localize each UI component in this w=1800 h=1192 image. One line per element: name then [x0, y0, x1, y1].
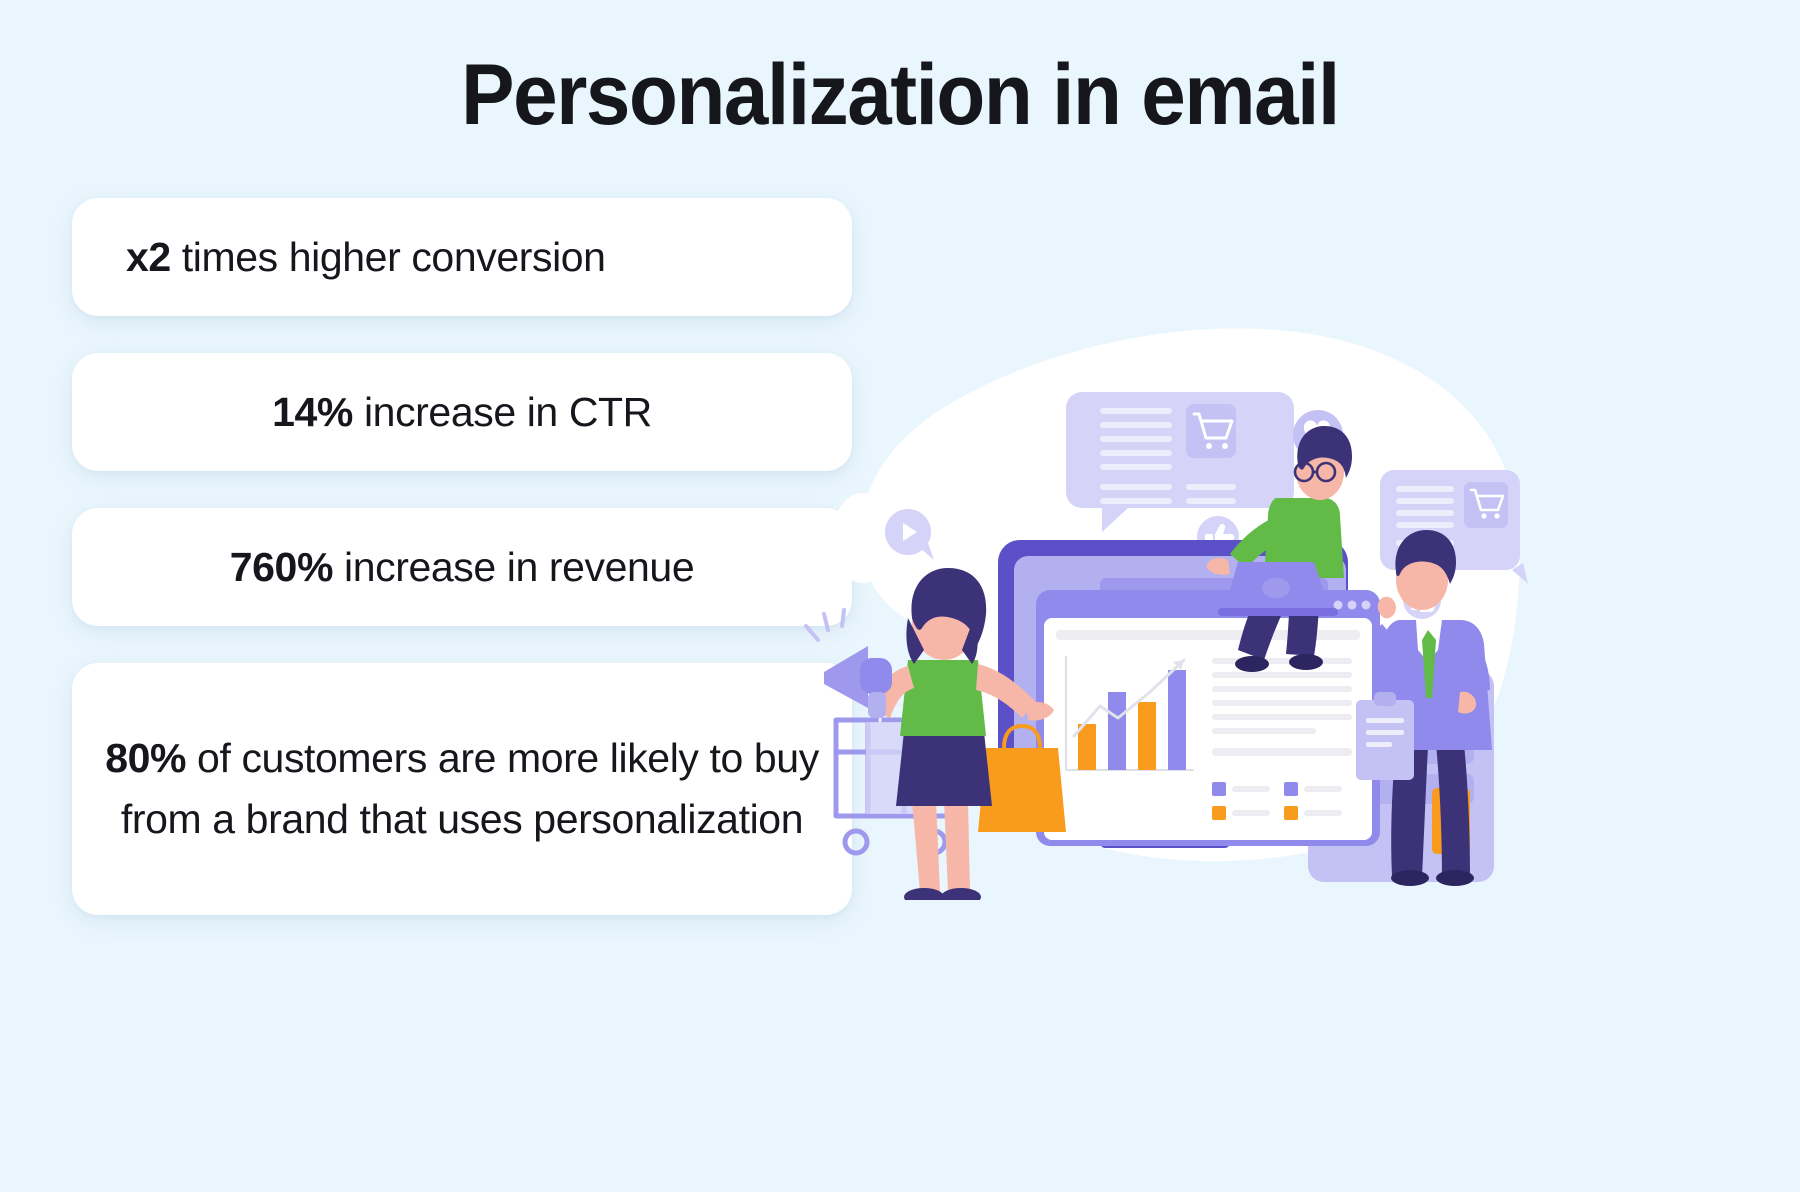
- stat-card-conversion: x2 times higher conversion: [72, 198, 852, 316]
- stat-rest-conversion: times higher conversion: [171, 234, 606, 280]
- stat-highlight-revenue: 760%: [230, 544, 333, 590]
- stat-highlight-ctr: 14%: [272, 389, 353, 435]
- stat-card-purchase-intent: 80% of customers are more likely to buy …: [72, 663, 852, 915]
- stat-card-ctr-text: 14% increase in CTR: [98, 383, 826, 441]
- stat-highlight-conversion: x2: [126, 234, 171, 280]
- analytics-dashboard-window: [1036, 590, 1380, 846]
- stat-card-conversion-text: x2 times higher conversion: [98, 228, 826, 286]
- stat-card-purchase-intent-text: 80% of customers are more likely to buy …: [98, 728, 826, 849]
- clipboard-icon: [1356, 692, 1414, 780]
- email-marketing-team-illustration: [800, 300, 1540, 900]
- stat-card-revenue-text: 760% increase in revenue: [98, 538, 826, 596]
- stat-rest-purchase-intent: of customers are more likely to buy from…: [121, 735, 819, 842]
- page-title: Personalization in email: [63, 46, 1737, 145]
- stat-rest-revenue: increase in revenue: [333, 544, 694, 590]
- stat-card-revenue: 760% increase in revenue: [72, 508, 852, 626]
- stat-rest-ctr: increase in CTR: [353, 389, 652, 435]
- infographic-page: Personalization in email x2 times higher…: [0, 0, 1800, 1192]
- stat-highlight-purchase-intent: 80%: [105, 735, 186, 781]
- stat-card-ctr: 14% increase in CTR: [72, 353, 852, 471]
- megaphone-icon: [806, 610, 892, 718]
- stats-card-list: x2 times higher conversion 14% increase …: [72, 198, 852, 952]
